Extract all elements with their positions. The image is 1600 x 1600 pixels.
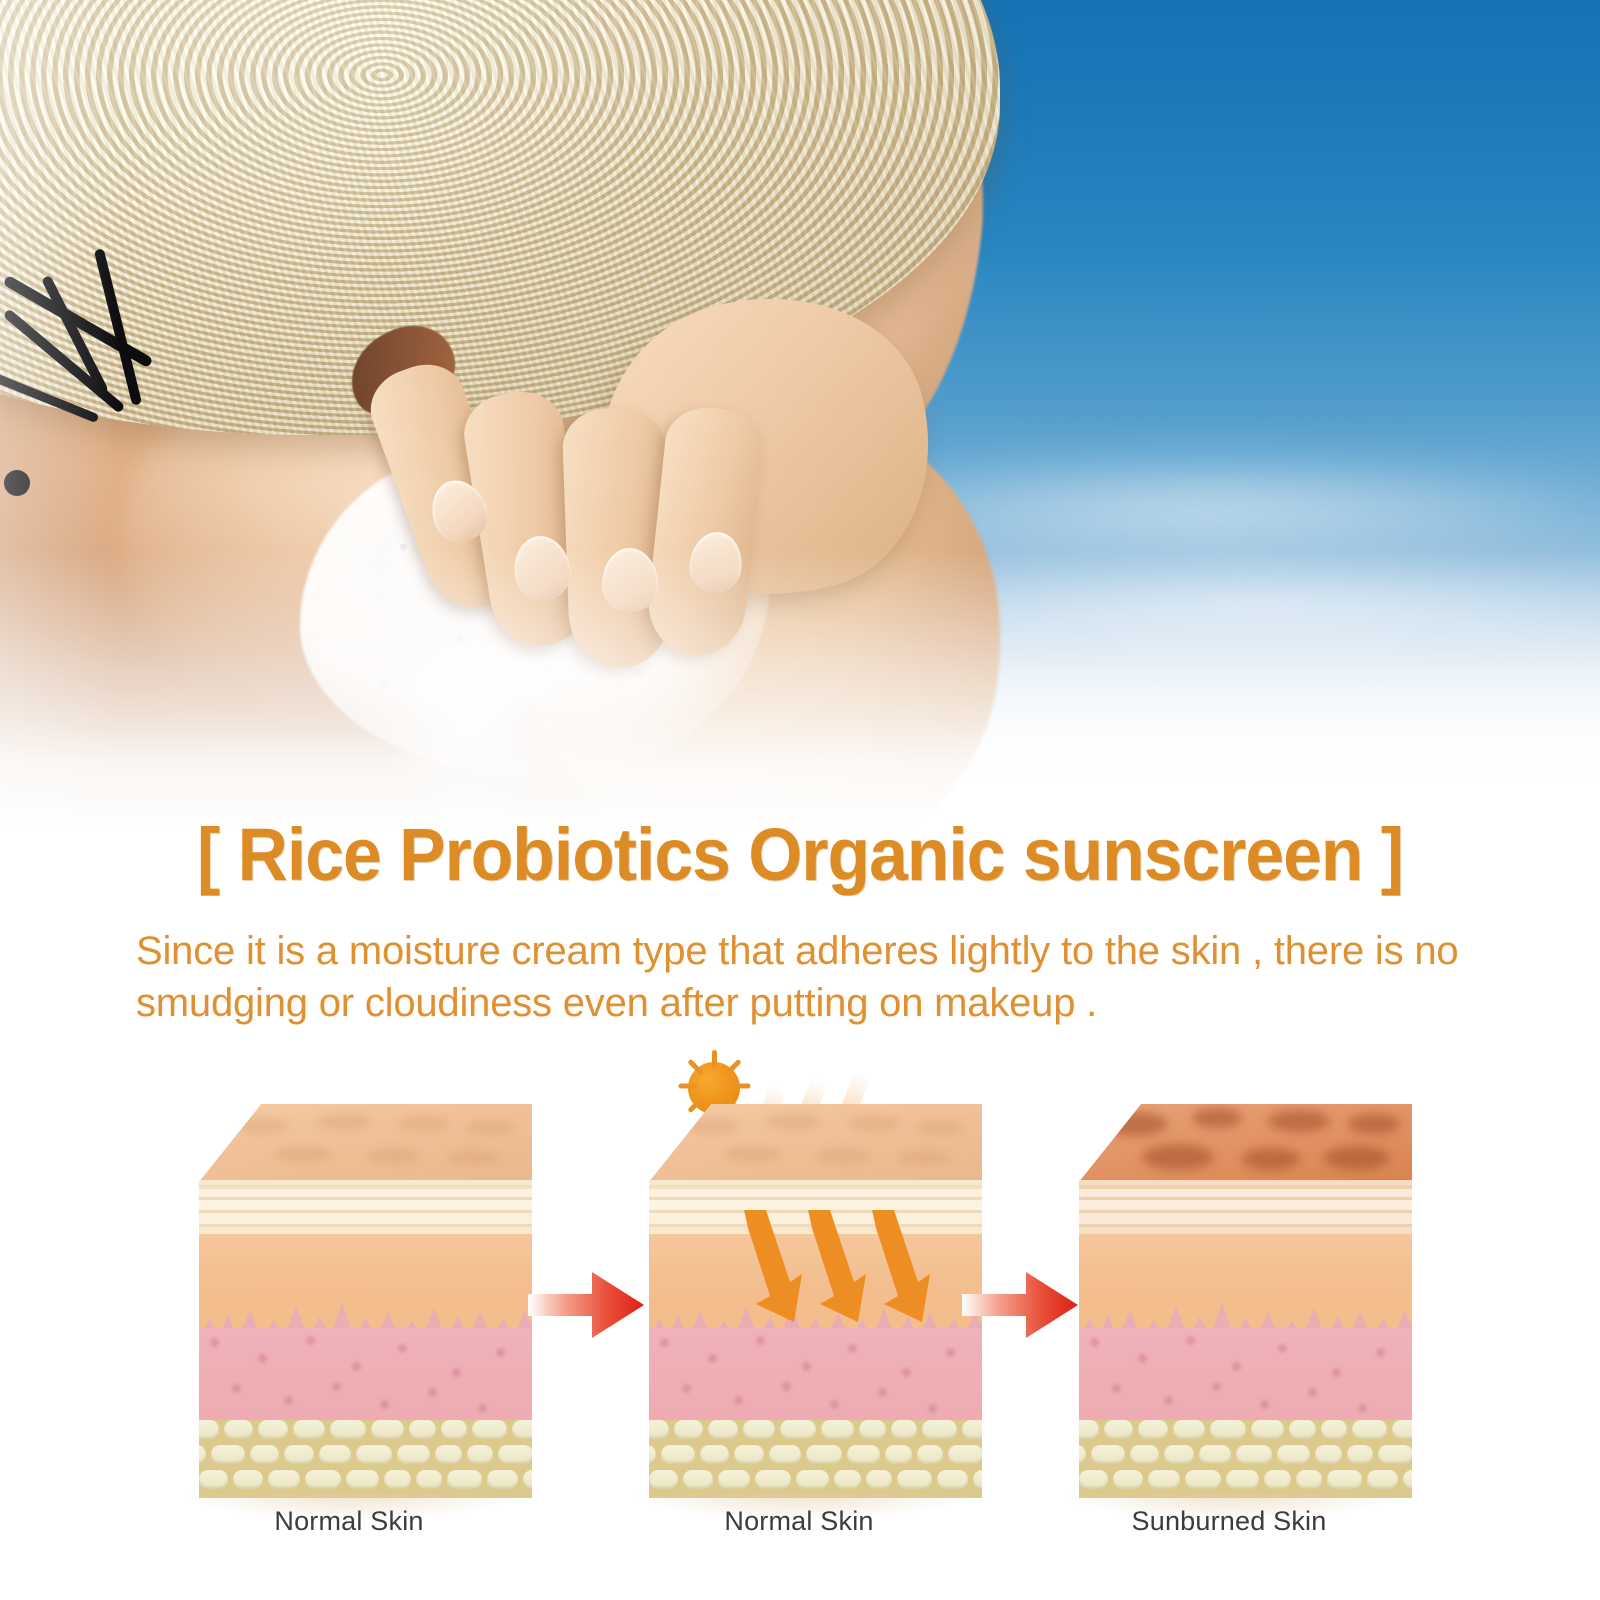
- skin-surface-sunburned: [1046, 1104, 1412, 1182]
- skin-layer-diagram: Normal Skin: [0, 1030, 1600, 1530]
- fat-cell: [409, 1420, 436, 1439]
- fat-cell: [1046, 1470, 1074, 1489]
- fat-cell: [866, 1470, 892, 1489]
- fat-cell: [1296, 1470, 1322, 1489]
- fat-cell: [635, 1420, 669, 1439]
- fat-cell: [346, 1470, 379, 1489]
- fat-cell: [780, 1420, 816, 1439]
- fat-cell: [806, 1445, 842, 1464]
- fat-cell: [1226, 1470, 1259, 1489]
- skin-block-sunburned: Sunburned Skin: [1046, 1058, 1412, 1398]
- fat-cell: [1277, 1445, 1310, 1464]
- subcutaneous-fat-layer: [166, 1420, 532, 1498]
- fat-cell: [1065, 1420, 1099, 1439]
- fat-cell: [755, 1470, 791, 1489]
- fat-cell: [718, 1470, 750, 1489]
- fat-cell: [371, 1420, 404, 1439]
- fat-cell: [616, 1420, 630, 1439]
- fat-cell: [743, 1420, 775, 1439]
- fat-cell: [1113, 1470, 1143, 1489]
- fat-cell: [661, 1445, 695, 1464]
- skin-surface: [166, 1104, 532, 1182]
- fat-cell: [734, 1445, 764, 1464]
- fat-cell: [700, 1445, 729, 1464]
- fat-cell: [1079, 1470, 1108, 1489]
- fat-cell: [441, 1420, 467, 1439]
- fat-cell: [962, 1420, 982, 1439]
- fat-cell: [1185, 1470, 1221, 1489]
- uv-ray-arrow-icon: [740, 1208, 802, 1324]
- product-marketing-page: [ Rice Probiotics Organic sunscreen ] Si…: [0, 0, 1600, 1600]
- fat-cell: [1289, 1420, 1316, 1439]
- fat-cell: [897, 1470, 932, 1489]
- stratum-corneum-layer: [1046, 1180, 1412, 1234]
- dermis-layer: [1046, 1328, 1412, 1428]
- photo-bottom-fade: [0, 550, 1600, 830]
- fat-cell: [616, 1445, 620, 1464]
- fat-cell: [166, 1470, 194, 1489]
- fat-cell: [922, 1420, 957, 1439]
- fat-cell: [1327, 1470, 1362, 1489]
- fat-cell: [284, 1445, 314, 1464]
- fat-cell: [1378, 1445, 1412, 1464]
- fat-cell-row: [166, 1420, 532, 1444]
- dermis-layer: [166, 1328, 532, 1428]
- skin-block-normal-1: Normal Skin: [166, 1058, 532, 1398]
- fat-cell: [1164, 1445, 1194, 1464]
- fat-cell: [1367, 1470, 1398, 1489]
- product-description: Since it is a moisture cream type that a…: [136, 925, 1468, 1029]
- fat-cell: [397, 1445, 430, 1464]
- fat-cell-row: [616, 1470, 982, 1494]
- uv-ray-arrow-icon: [804, 1208, 866, 1324]
- skin-block-caption: Sunburned Skin: [1046, 1506, 1412, 1537]
- fat-cell: [973, 1470, 982, 1489]
- dermis-layer: [616, 1328, 982, 1428]
- fat-cell: [891, 1420, 917, 1439]
- fat-cell: [166, 1420, 180, 1439]
- fat-cell: [384, 1470, 411, 1489]
- fat-cell: [917, 1445, 943, 1464]
- fat-cell: [1138, 1420, 1168, 1439]
- fat-cell: [674, 1420, 703, 1439]
- fat-cell-row: [1046, 1420, 1412, 1444]
- fat-cell: [435, 1445, 462, 1464]
- fat-cell-row: [166, 1445, 532, 1469]
- fat-cell: [1055, 1445, 1086, 1464]
- subcutaneous-fat-layer: [1046, 1420, 1412, 1498]
- fat-cell: [834, 1470, 861, 1489]
- fat-cell: [1046, 1445, 1050, 1464]
- fat-cell: [1236, 1445, 1272, 1464]
- stratum-corneum-layer: [166, 1180, 532, 1234]
- fat-cell: [356, 1445, 392, 1464]
- fat-cell: [821, 1420, 854, 1439]
- fat-cell: [1210, 1420, 1246, 1439]
- fat-cell: [649, 1470, 678, 1489]
- fat-cell: [319, 1445, 351, 1464]
- fat-cell: [1347, 1445, 1373, 1464]
- fat-cell: [625, 1445, 656, 1464]
- fat-cell: [487, 1470, 518, 1489]
- fat-cell: [796, 1470, 829, 1489]
- fat-cell: [683, 1470, 713, 1489]
- skin-block-caption: Normal Skin: [166, 1506, 532, 1537]
- fat-cell: [1315, 1445, 1342, 1464]
- fat-cell: [1251, 1420, 1284, 1439]
- fat-cell: [769, 1445, 801, 1464]
- fat-cell: [498, 1445, 532, 1464]
- fat-cell: [233, 1470, 263, 1489]
- fat-cell: [1130, 1445, 1159, 1464]
- fat-cell: [211, 1445, 245, 1464]
- fat-cell: [1392, 1420, 1412, 1439]
- fat-cell: [1264, 1470, 1291, 1489]
- skin-surface: [616, 1104, 982, 1182]
- fat-cell: [1173, 1420, 1205, 1439]
- subcutaneous-fat-layer: [616, 1420, 982, 1498]
- uv-ray-arrow-icon: [868, 1208, 930, 1324]
- hero-photo: [0, 0, 1600, 830]
- fat-cell: [1104, 1420, 1133, 1439]
- fat-cell-row: [616, 1445, 982, 1469]
- fat-cell-row: [1046, 1470, 1412, 1494]
- fat-cell: [1148, 1470, 1180, 1489]
- fat-cell: [616, 1470, 644, 1489]
- skin-block-caption: Normal Skin: [616, 1506, 982, 1537]
- fat-cell: [1403, 1470, 1412, 1489]
- fat-cell: [258, 1420, 288, 1439]
- fat-cell: [512, 1420, 532, 1439]
- fat-cell: [937, 1470, 968, 1489]
- fat-cell: [948, 1445, 982, 1464]
- fat-cell: [330, 1420, 366, 1439]
- fat-cell: [224, 1420, 253, 1439]
- fat-cell: [467, 1445, 493, 1464]
- fat-cell-row: [616, 1420, 982, 1444]
- fat-cell: [447, 1470, 482, 1489]
- fat-cell: [1199, 1445, 1231, 1464]
- fat-cell: [1046, 1420, 1060, 1439]
- fat-cell: [1091, 1445, 1125, 1464]
- fat-cell: [166, 1445, 170, 1464]
- fat-cell: [199, 1470, 228, 1489]
- fat-cell: [416, 1470, 442, 1489]
- fat-cell: [1352, 1420, 1387, 1439]
- fat-cell: [859, 1420, 886, 1439]
- fat-cell: [885, 1445, 912, 1464]
- fat-cell: [250, 1445, 279, 1464]
- fat-cell: [472, 1420, 507, 1439]
- fat-cell-row: [1046, 1445, 1412, 1469]
- fat-cell-row: [166, 1470, 532, 1494]
- fat-cell: [293, 1420, 325, 1439]
- fat-cell: [175, 1445, 206, 1464]
- page-title: [ Rice Probiotics Organic sunscreen ]: [48, 818, 1552, 892]
- fat-cell: [1321, 1420, 1347, 1439]
- fat-cell: [523, 1470, 532, 1489]
- fat-cell: [708, 1420, 738, 1439]
- fat-cell: [268, 1470, 300, 1489]
- fat-cell: [185, 1420, 219, 1439]
- fat-cell: [847, 1445, 880, 1464]
- fat-cell: [305, 1470, 341, 1489]
